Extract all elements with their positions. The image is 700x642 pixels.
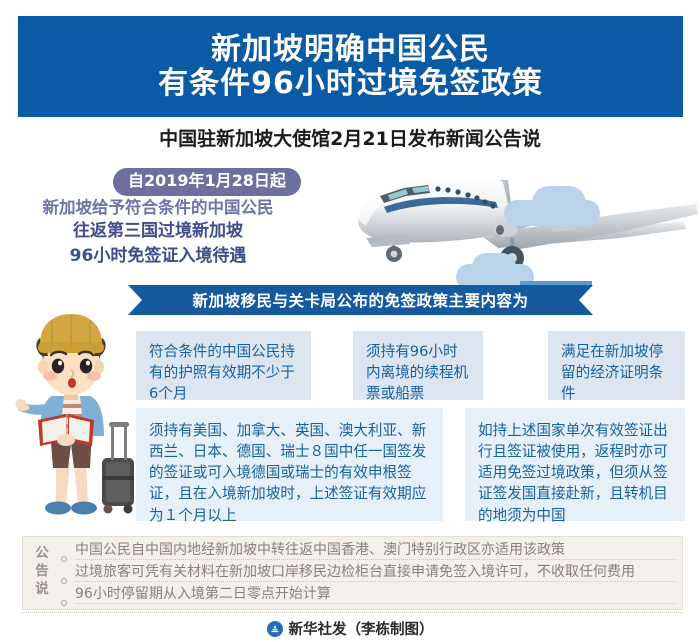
bullet-icon	[61, 578, 67, 584]
title-bar: 新加坡明确中国公民 有条件96小时过境免签政策	[18, 16, 683, 117]
info-box-passport-validity: 符合条件的中国公民持有的护照有效期不少于6个月	[136, 331, 311, 400]
cloud-shape-4	[472, 253, 516, 281]
dotted-divider	[75, 559, 676, 560]
infographic-poster: 新加坡明确中国公民 有条件96小时过境免签政策 中国驻新加坡大使馆2月21日发布…	[0, 0, 700, 642]
notice-item-text: 过境旅客可凭有关材料在新加坡口岸移民边检柜台直接申请免签入境许可，不收取任何费用	[75, 561, 635, 581]
bullet-icon	[61, 600, 67, 606]
section-banner-label: 新加坡移民与关卡局公布的免签政策主要内容为	[192, 289, 528, 311]
notice-item-list: 中国公民自中国内地经新加坡中转往返中国香港、澳门特别行政区亦适用该政策 过境旅客…	[61, 541, 676, 607]
info-box-visa-countries: 须持有美国、加拿大、英国、澳大利亚、新西兰、日本、德国、瑞士８国中任一国签发的签…	[136, 408, 443, 521]
notice-item: 96小时停留期从入境第二日零点开始计算	[61, 585, 676, 607]
notice-item: 中国公民自中国内地经新加坡中转往返中国香港、澳门特别行政区亦适用该政策	[61, 541, 676, 563]
info-box-return-trip: 如持上述国家单次有效签证出行且签证被使用，返程时亦可适用免签过境政策，但须从签证…	[465, 408, 685, 521]
notice-item: 过境旅客可凭有关材料在新加坡口岸移民边检柜台直接申请免签入境许可，不收取任何费用	[61, 563, 676, 585]
info-box-onward-ticket: 须持有96小时内离境的续程机票或船票	[353, 331, 483, 400]
footer-credit: 新华社发（李栋制图）	[289, 618, 434, 639]
traveler-svg	[14, 312, 142, 540]
dotted-divider	[75, 581, 676, 582]
footer: 新华社发（李栋制图）	[0, 618, 700, 639]
info-box-financial-proof: 满足在新加坡停留的经济证明条件	[548, 331, 685, 400]
notice-item-text: 96小时停留期从入境第二日零点开始计算	[75, 583, 331, 603]
notice-item-text: 中国公民自中国内地经新加坡中转往返中国香港、澳门特别行政区亦适用该政策	[75, 539, 565, 559]
dotted-divider	[75, 603, 676, 604]
bullet-icon	[61, 556, 67, 562]
traveler-illustration	[14, 312, 142, 540]
hero-text-line-1: 新加坡给予符合条件的中国公民	[0, 196, 316, 219]
footer-divider	[22, 612, 683, 613]
hero-text-block: 新加坡给予符合条件的中国公民 往返第三国过境新加坡 96小时免签证入境待遇	[0, 196, 316, 268]
hero-text-line-3: 96小时免签证入境待遇	[0, 244, 316, 268]
xinhua-logo-icon	[267, 621, 283, 637]
notice-panel: 公告说 中国公民自中国内地经新加坡中转往返中国香港、澳门特别行政区亦适用该政策 …	[22, 536, 683, 610]
subtitle: 中国驻新加坡大使馆2月21日发布新闻公告说	[0, 124, 700, 151]
xinhua-emblem-svg	[269, 623, 281, 635]
title-line-2: 有条件96小时过境免签政策	[158, 67, 543, 101]
cloud-shape-2	[532, 186, 586, 220]
section-banner: 新加坡移民与关卡局公布的免签政策主要内容为	[128, 285, 593, 315]
date-badge: 自2019年1月28日起	[113, 168, 301, 196]
hero-section: 自2019年1月28日起 新加坡给予符合条件的中国公民 往返第三国过境新加坡 9…	[0, 160, 700, 290]
hero-text-line-2: 往返第三国过境新加坡	[0, 219, 316, 243]
title-line-1: 新加坡明确中国公民	[211, 33, 490, 67]
airplane-illustration	[318, 152, 700, 302]
notice-panel-label: 公告说	[32, 545, 52, 598]
